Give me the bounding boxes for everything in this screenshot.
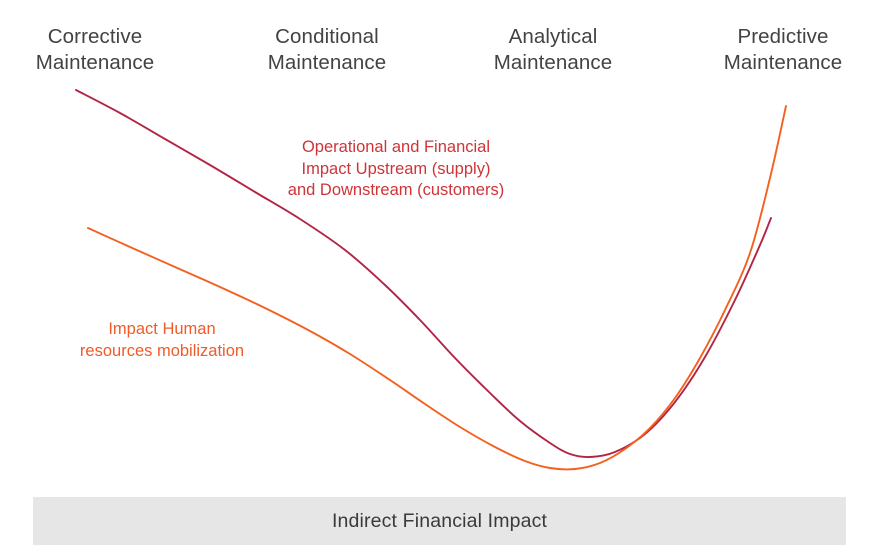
curve-plot-area	[0, 0, 878, 559]
chart-canvas: Corrective Maintenance Conditional Maint…	[0, 0, 878, 559]
footer-label: Indirect Financial Impact	[332, 510, 547, 533]
annotation-operational-financial-impact: Operational and Financial Impact Upstrea…	[236, 137, 556, 202]
annotation-human-resources-mobilization: Impact Human resources mobilization	[2, 319, 322, 362]
indirect-financial-impact-bar: Indirect Financial Impact	[33, 497, 846, 545]
